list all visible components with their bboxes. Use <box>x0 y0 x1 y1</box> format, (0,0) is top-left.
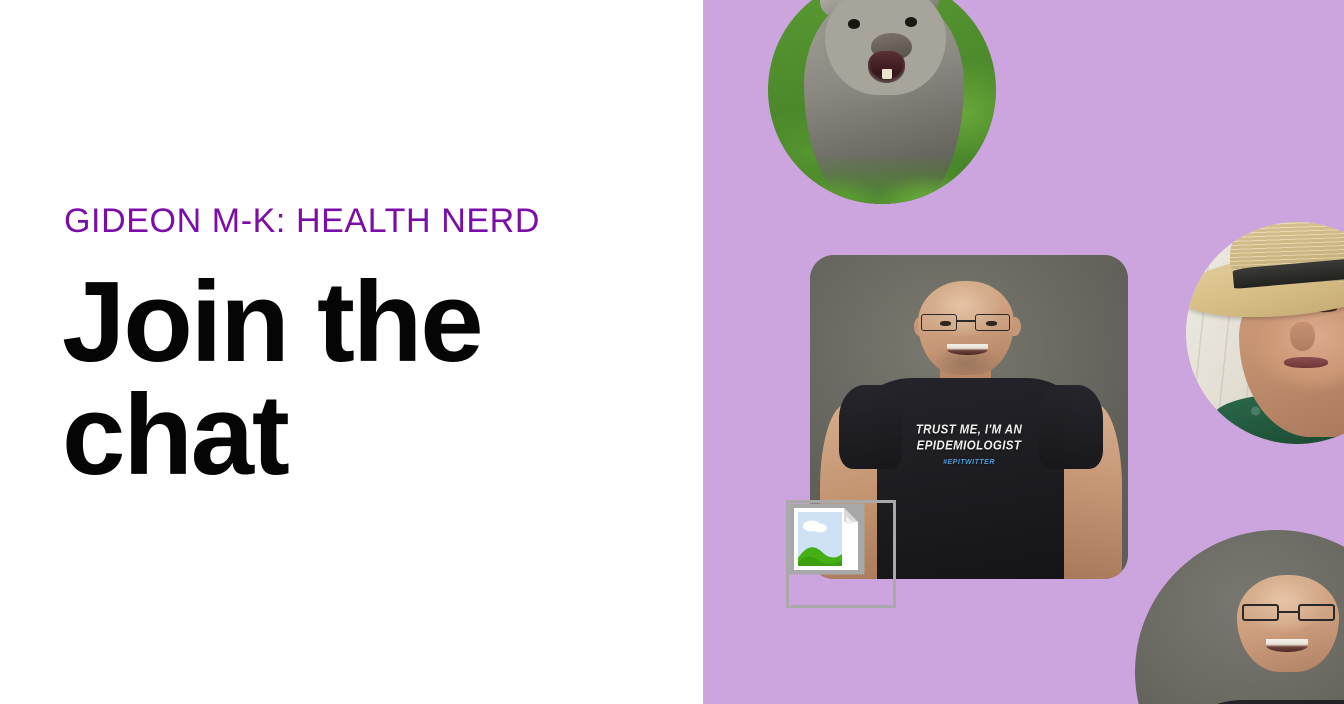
left-text-panel: GIDEON M-K: HEALTH NERD Join the chat <box>0 0 703 704</box>
main-photo-sleeve-right <box>1039 385 1103 469</box>
page-title: Join the chat <box>62 267 602 493</box>
main-photo-eye-left <box>940 321 951 326</box>
wombat-avatar-image <box>768 0 996 204</box>
glasses-icon <box>1242 604 1336 621</box>
hat-man-nose <box>1290 322 1314 351</box>
page-root: GIDEON M-K: HEALTH NERD Join the chat <box>0 0 1344 704</box>
main-photo-glasses-bridge <box>957 320 975 322</box>
right-media-panel: TRUST ME, I'M AN EPIDEMIOLOGIST #EPITWIT… <box>703 0 1344 704</box>
epidemiologist-avatar: TRUST ME, I'M AN EPIDEMIOLOGIST <box>1135 530 1344 704</box>
bottom-avatar-glasses-bridge <box>1279 611 1298 613</box>
bottom-avatar-lens-left <box>1242 604 1279 621</box>
wombat-grass-foreground <box>768 154 996 204</box>
hat-man-mouth <box>1284 357 1328 367</box>
brand-eyebrow: GIDEON M-K: HEALTH NERD <box>64 203 540 240</box>
main-photo-eye-right <box>986 321 997 326</box>
wombat-tooth <box>882 69 892 78</box>
wombat-eye-right <box>905 17 917 27</box>
bottom-avatar-lens-right <box>1298 604 1335 621</box>
hat-man-avatar <box>1186 222 1344 444</box>
bottom-avatar-head <box>1237 575 1339 672</box>
broken-image-icon <box>788 502 866 576</box>
wombat-avatar <box>768 0 996 204</box>
main-photo-lens-left <box>921 314 957 331</box>
wombat-eye-left <box>848 19 860 29</box>
main-photo-sleeve-left <box>839 385 903 469</box>
hat-man-avatar-image <box>1186 222 1344 444</box>
broken-image-placeholder[interactable] <box>786 500 896 608</box>
